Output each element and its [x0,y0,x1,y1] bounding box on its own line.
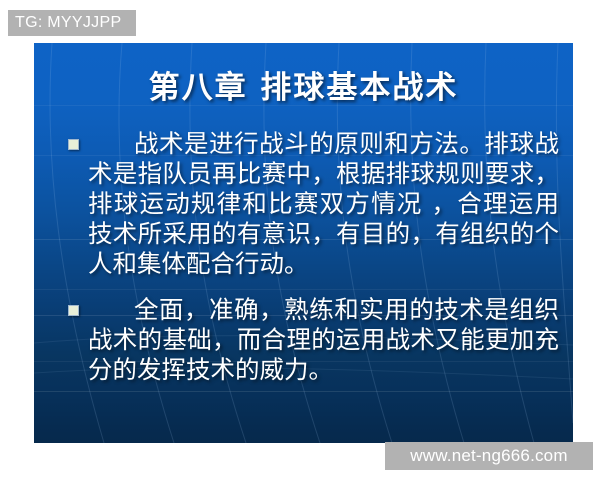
square-bullet-icon [68,139,79,150]
slide-page: 第八章 排球基本战术 战术是进行战斗的原则和方法。排球战术是指队员再比赛中，根据… [0,0,600,480]
bullet-text: 战术是进行战斗的原则和方法。排球战术是指队员再比赛中，根据排球规则要求，排球运动… [88,129,559,279]
square-bullet-icon [68,305,79,316]
slide-body: 战术是进行战斗的原则和方法。排球战术是指队员再比赛中，根据排球规则要求，排球运动… [54,129,559,401]
bullet-text: 全面，准确，熟练和实用的技术是组织战术的基础，而合理的运用战术又能更加充分的发挥… [88,295,559,385]
slide-title: 第八章 排球基本战术 [34,69,573,107]
bullet-item: 战术是进行战斗的原则和方法。排球战术是指队员再比赛中，根据排球规则要求，排球运动… [54,129,559,279]
presentation-slide: 第八章 排球基本战术 战术是进行战斗的原则和方法。排球战术是指队员再比赛中，根据… [34,43,573,443]
bullet-item: 全面，准确，熟练和实用的技术是组织战术的基础，而合理的运用战术又能更加充分的发挥… [54,295,559,385]
tg-tag-label: TG: MYYJJPP [8,10,136,36]
watermark-label: www.net-ng666.com [385,442,593,470]
